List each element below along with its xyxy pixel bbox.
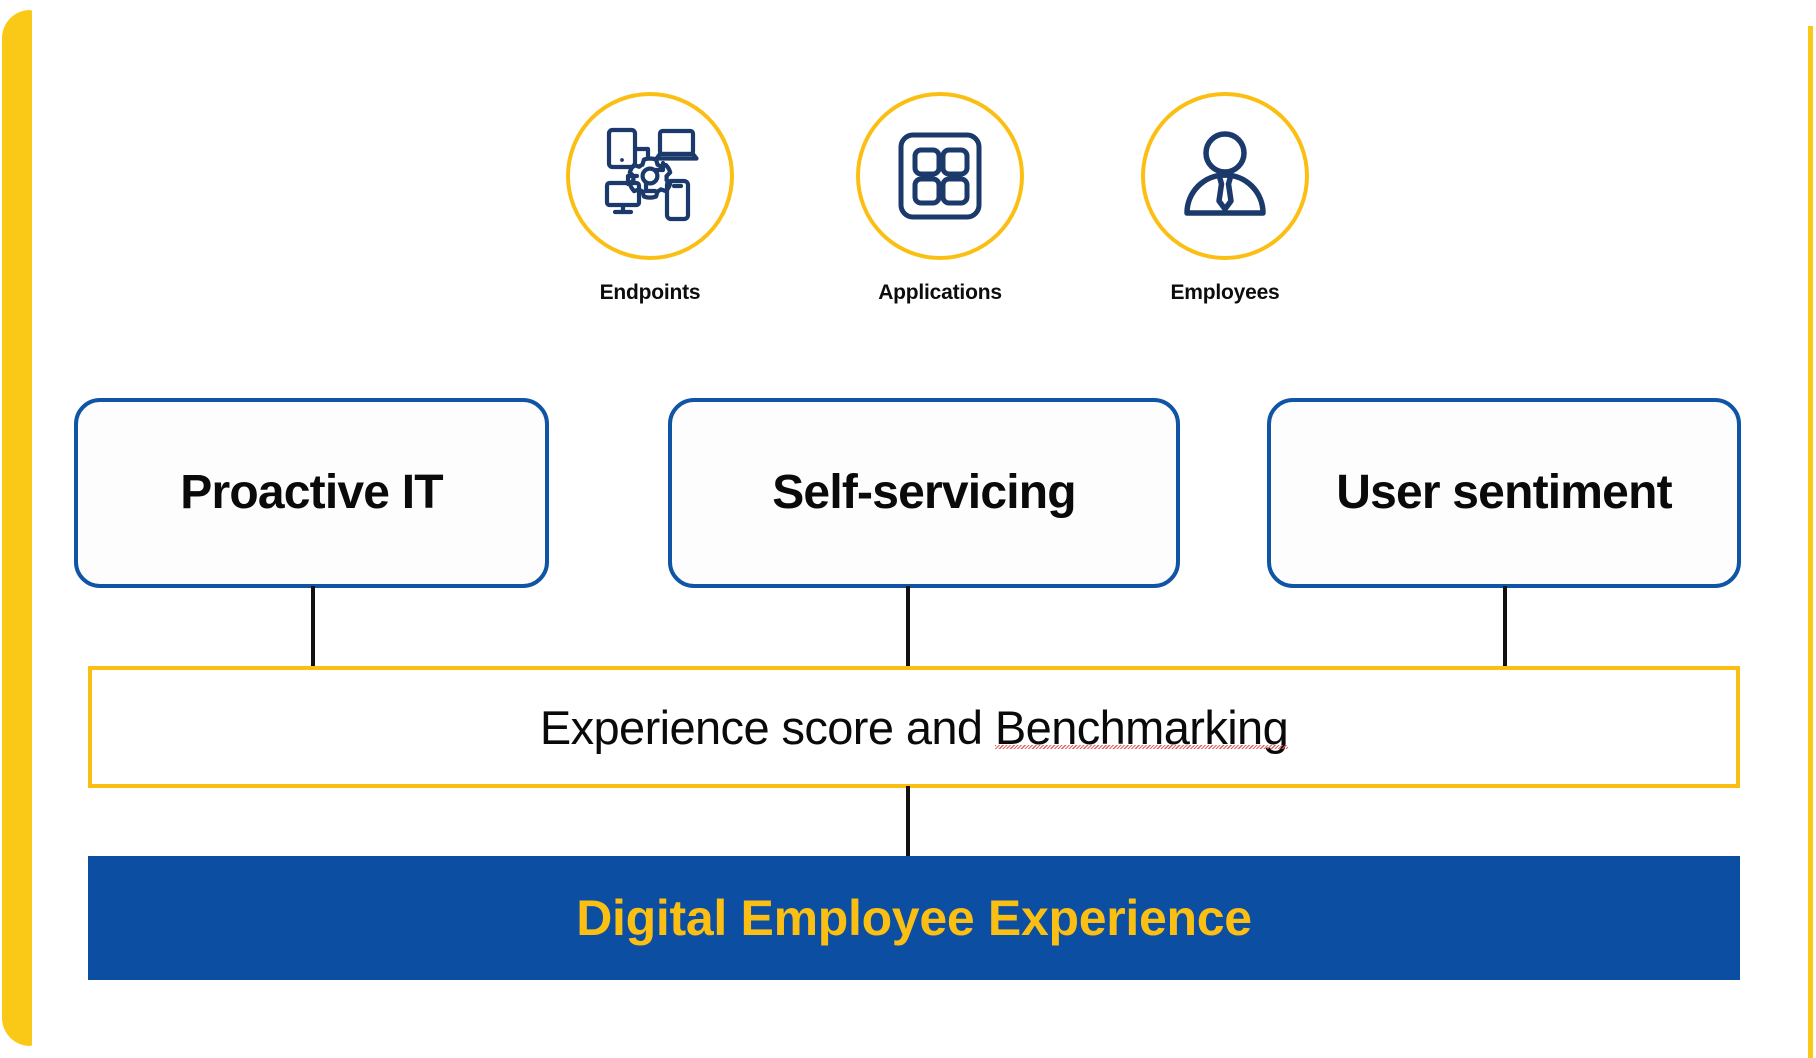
digital-employee-experience-label: Digital Employee Experience — [576, 893, 1252, 943]
pillar-self-servicing[interactable]: Self-servicing — [668, 398, 1180, 588]
app-grid-icon — [892, 128, 988, 224]
employees-circle — [1141, 92, 1309, 260]
applications-label: Applications — [840, 282, 1040, 303]
connector-experience-to-dex — [906, 786, 910, 858]
employees-label: Employees — [1125, 282, 1325, 303]
connector-proactive-it-to-experience — [311, 586, 315, 670]
applications-circle — [856, 92, 1024, 260]
input-node-employees[interactable]: Employees — [1125, 92, 1325, 303]
devices-gear-icon — [595, 121, 705, 231]
benchmarking-misspelled-word: Benchmarking — [995, 704, 1288, 751]
pillar-proactive-it[interactable]: Proactive IT — [74, 398, 549, 588]
pillar-user-sentiment[interactable]: User sentiment — [1267, 398, 1741, 588]
employee-person-icon — [1175, 127, 1275, 225]
endpoints-label: Endpoints — [550, 282, 750, 303]
connector-self-servicing-to-experience — [906, 586, 910, 670]
inputs-row: Endpoints Applications — [0, 0, 1816, 360]
experience-score-label: Experience score and Benchmarking — [540, 704, 1288, 751]
pillar-proactive-it-label: Proactive IT — [180, 469, 443, 517]
connector-user-sentiment-to-experience — [1503, 586, 1507, 670]
endpoints-circle — [566, 92, 734, 260]
input-node-endpoints[interactable]: Endpoints — [550, 92, 750, 303]
diagram-canvas: Endpoints Applications — [0, 0, 1816, 1058]
experience-score-text-before: Experience score and — [540, 701, 995, 754]
pillar-user-sentiment-label: User sentiment — [1336, 469, 1672, 517]
experience-score-band[interactable]: Experience score and Benchmarking — [88, 666, 1740, 788]
digital-employee-experience-bar[interactable]: Digital Employee Experience — [88, 856, 1740, 980]
input-node-applications[interactable]: Applications — [840, 92, 1040, 303]
pillar-self-servicing-label: Self-servicing — [772, 469, 1076, 517]
